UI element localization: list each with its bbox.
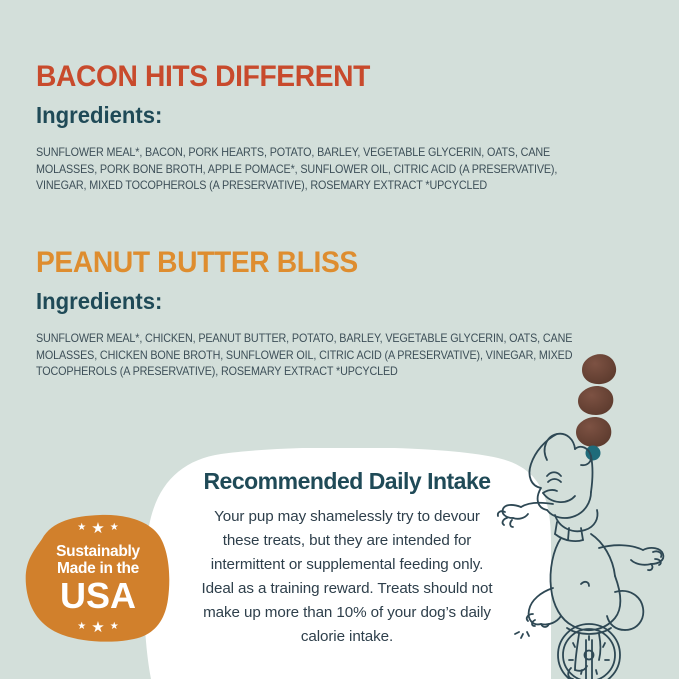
- intake-card-body: Your pup may shamelessly try to devour t…: [197, 505, 497, 649]
- dog-on-unicycle-illustration: [495, 352, 679, 679]
- ingredients-label-peanut-butter: Ingredients:: [36, 290, 598, 313]
- recommended-daily-intake-card: Recommended Daily Intake Your pup may sh…: [143, 448, 551, 679]
- badge-line-made-in-the: Made in the: [57, 560, 139, 577]
- product-info-panel: BACON HITS DIFFERENT Ingredients: SUNFLO…: [0, 0, 679, 679]
- dog-illustration-svg: [495, 352, 679, 679]
- sustainably-made-in-usa-badge: ★ ★ ★ Sustainably Made in the USA ★ ★ ★: [22, 511, 174, 644]
- star-icon: ★: [77, 523, 86, 533]
- star-icon: ★: [91, 521, 104, 536]
- ingredients-section-bacon: BACON HITS DIFFERENT Ingredients: SUNFLO…: [36, 62, 621, 195]
- ingredients-label-bacon: Ingredients:: [36, 104, 598, 127]
- star-icon: ★: [110, 622, 119, 632]
- badge-text-group: ★ ★ ★ Sustainably Made in the USA ★ ★ ★: [22, 511, 174, 644]
- nose-dot-icon: [586, 446, 601, 461]
- badge-stars-bottom: ★ ★ ★: [77, 620, 118, 635]
- star-icon: ★: [110, 523, 119, 533]
- badge-stars-top: ★ ★ ★: [77, 521, 118, 536]
- flavor-title-bacon: BACON HITS DIFFERENT: [36, 62, 586, 92]
- badge-line-usa: USA: [60, 578, 136, 614]
- treat-icon: [576, 354, 616, 447]
- flavor-title-peanut-butter: PEANUT BUTTER BLISS: [36, 248, 586, 278]
- intake-card-title: Recommended Daily Intake: [143, 470, 551, 493]
- ingredients-list-bacon: SUNFLOWER MEAL*, BACON, PORK HEARTS, POT…: [36, 145, 580, 195]
- star-icon: ★: [77, 622, 86, 632]
- star-icon: ★: [91, 620, 104, 635]
- badge-line-sustainably: Sustainably: [56, 543, 140, 560]
